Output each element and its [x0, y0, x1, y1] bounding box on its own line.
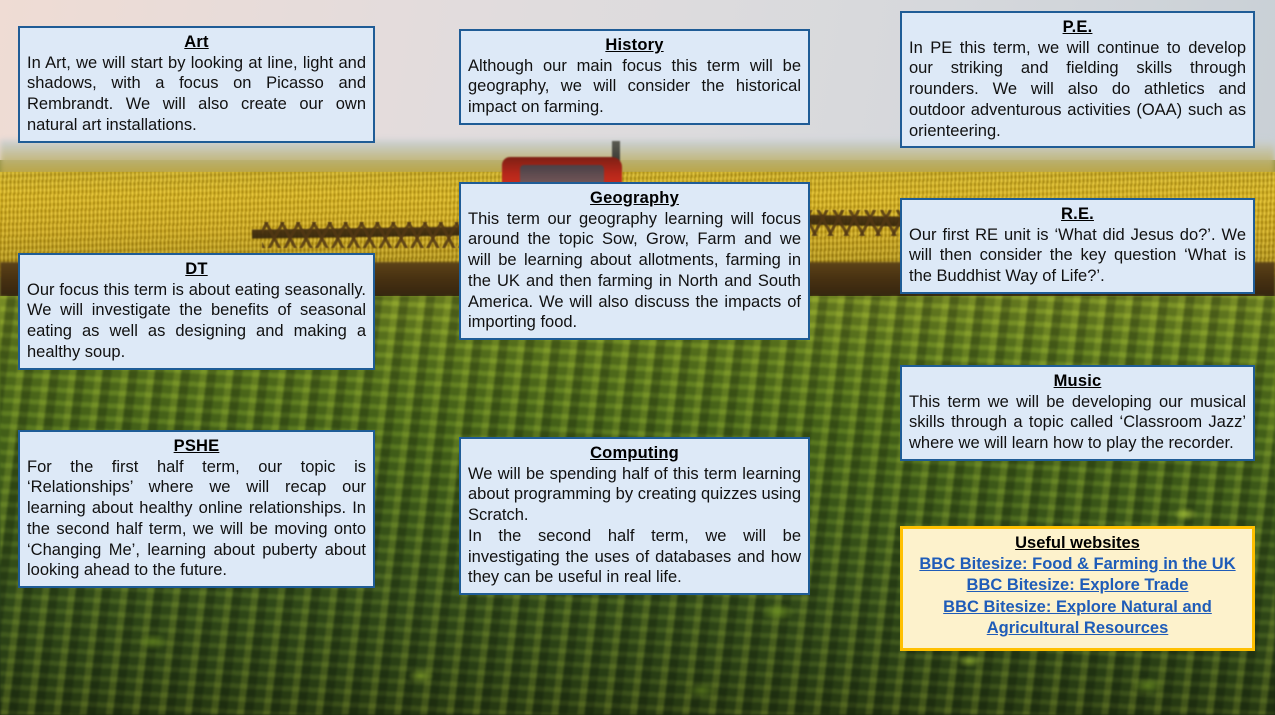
list-item: BBC Bitesize: Explore Natural and Agricu… — [911, 597, 1244, 640]
subject-body-art: In Art, we will start by looking at line… — [27, 53, 366, 136]
link-bbc-bitesize-explore-trade[interactable]: BBC Bitesize: Explore Trade — [967, 576, 1189, 594]
subject-heading-re: R.E. — [909, 204, 1246, 225]
subject-card-pe: P.E. In PE this term, we will continue t… — [900, 11, 1255, 148]
subject-body-pshe: For the first half term, our topic is ‘R… — [27, 457, 366, 581]
subject-heading-art: Art — [27, 32, 366, 53]
useful-websites-heading: Useful websites — [911, 534, 1244, 553]
subject-body-dt: Our focus this term is about eating seas… — [27, 280, 366, 363]
list-item: BBC Bitesize: Explore Trade — [911, 575, 1244, 596]
subject-body-computing-p1: We will be spending half of this term le… — [468, 464, 801, 526]
subject-heading-computing: Computing — [468, 443, 801, 464]
sprayer-truss-left-icon — [262, 222, 477, 248]
subject-card-re: R.E. Our first RE unit is ‘What did Jesu… — [900, 198, 1255, 294]
subject-card-geography: Geography This term our geography learni… — [459, 182, 810, 340]
subject-heading-geography: Geography — [468, 188, 801, 209]
subject-body-pe: In PE this term, we will continue to dev… — [909, 38, 1246, 142]
subject-card-history: History Although our main focus this ter… — [459, 29, 810, 125]
subject-heading-pe: P.E. — [909, 17, 1246, 38]
subject-body-re: Our first RE unit is ‘What did Jesus do?… — [909, 225, 1246, 287]
subject-body-history: Although our main focus this term will b… — [468, 56, 801, 118]
useful-websites-list: BBC Bitesize: Food & Farming in the UK B… — [911, 554, 1244, 640]
link-bbc-bitesize-food-farming-uk[interactable]: BBC Bitesize: Food & Farming in the UK — [919, 555, 1235, 573]
subject-card-art: Art In Art, we will start by looking at … — [18, 26, 375, 143]
link-bbc-bitesize-natural-agricultural-resources[interactable]: BBC Bitesize: Explore Natural and Agricu… — [943, 598, 1212, 637]
subject-heading-dt: DT — [27, 259, 366, 280]
subject-heading-pshe: PSHE — [27, 436, 366, 457]
subject-body-computing-p2: In the second half term, we will be inve… — [468, 526, 801, 588]
curriculum-overview-page: Art In Art, we will start by looking at … — [0, 0, 1275, 715]
subject-body-music: This term we will be developing our musi… — [909, 392, 1246, 454]
subject-heading-history: History — [468, 35, 801, 56]
subject-card-pshe: PSHE For the first half term, our topic … — [18, 430, 375, 588]
subject-card-dt: DT Our focus this term is about eating s… — [18, 253, 375, 370]
subject-body-geography: This term our geography learning will fo… — [468, 209, 801, 333]
subject-card-music: Music This term we will be developing ou… — [900, 365, 1255, 461]
subject-card-computing: Computing We will be spending half of th… — [459, 437, 810, 595]
list-item: BBC Bitesize: Food & Farming in the UK — [911, 554, 1244, 575]
subject-heading-music: Music — [909, 371, 1246, 392]
useful-websites-card: Useful websites BBC Bitesize: Food & Far… — [900, 526, 1255, 651]
